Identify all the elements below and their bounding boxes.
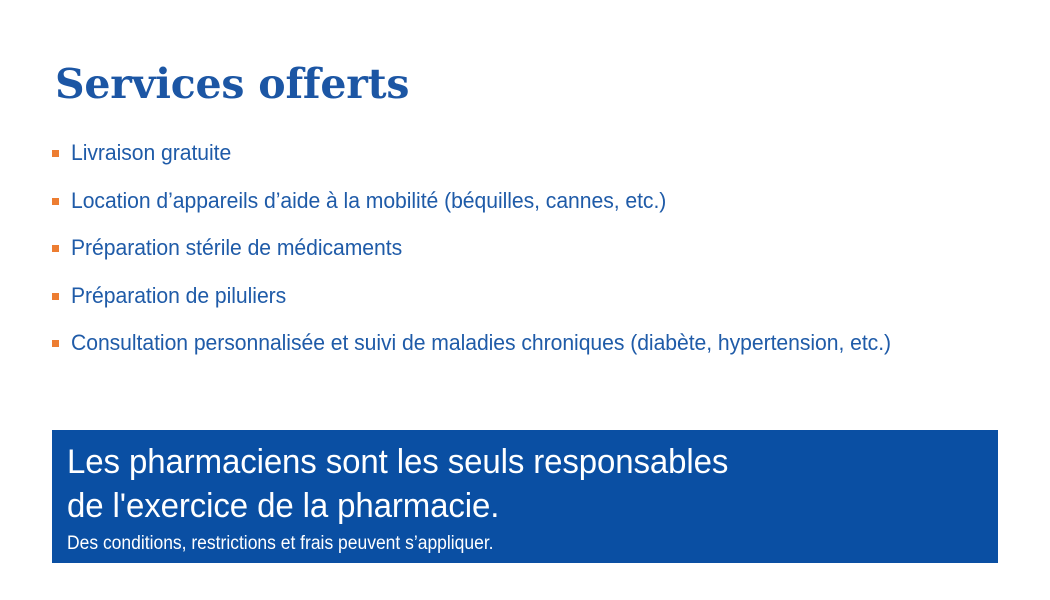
slide-canvas: Services offerts Livraison gratuite Loca…	[0, 0, 1050, 600]
list-item: Préparation de piluliers	[52, 282, 1032, 330]
callout-heading-line-1: Les pharmaciens sont les seuls responsab…	[67, 440, 970, 484]
square-bullet-icon	[52, 198, 59, 205]
page-title: Services offerts	[55, 60, 409, 108]
square-bullet-icon	[52, 245, 59, 252]
list-item-label: Préparation stérile de médicaments	[71, 234, 402, 262]
list-item: Préparation stérile de médicaments	[52, 234, 1032, 282]
list-item: Location d’appareils d’aide à la mobilit…	[52, 187, 1032, 235]
callout-note: Des conditions, restrictions et frais pe…	[67, 532, 924, 556]
square-bullet-icon	[52, 150, 59, 157]
services-bullet-list: Livraison gratuite Location d’appareils …	[52, 139, 1032, 377]
callout-heading-line-2: de l'exercice de la pharmacie.	[67, 484, 970, 528]
list-item-label: Livraison gratuite	[71, 139, 231, 167]
square-bullet-icon	[52, 293, 59, 300]
list-item-label: Location d’appareils d’aide à la mobilit…	[71, 187, 666, 215]
callout-heading: Les pharmaciens sont les seuls responsab…	[67, 440, 970, 528]
disclaimer-callout-box: Les pharmaciens sont les seuls responsab…	[52, 430, 998, 563]
square-bullet-icon	[52, 340, 59, 347]
list-item-label: Préparation de piluliers	[71, 282, 286, 310]
list-item: Consultation personnalisée et suivi de m…	[52, 329, 1032, 377]
list-item: Livraison gratuite	[52, 139, 1032, 187]
list-item-label: Consultation personnalisée et suivi de m…	[71, 329, 891, 357]
